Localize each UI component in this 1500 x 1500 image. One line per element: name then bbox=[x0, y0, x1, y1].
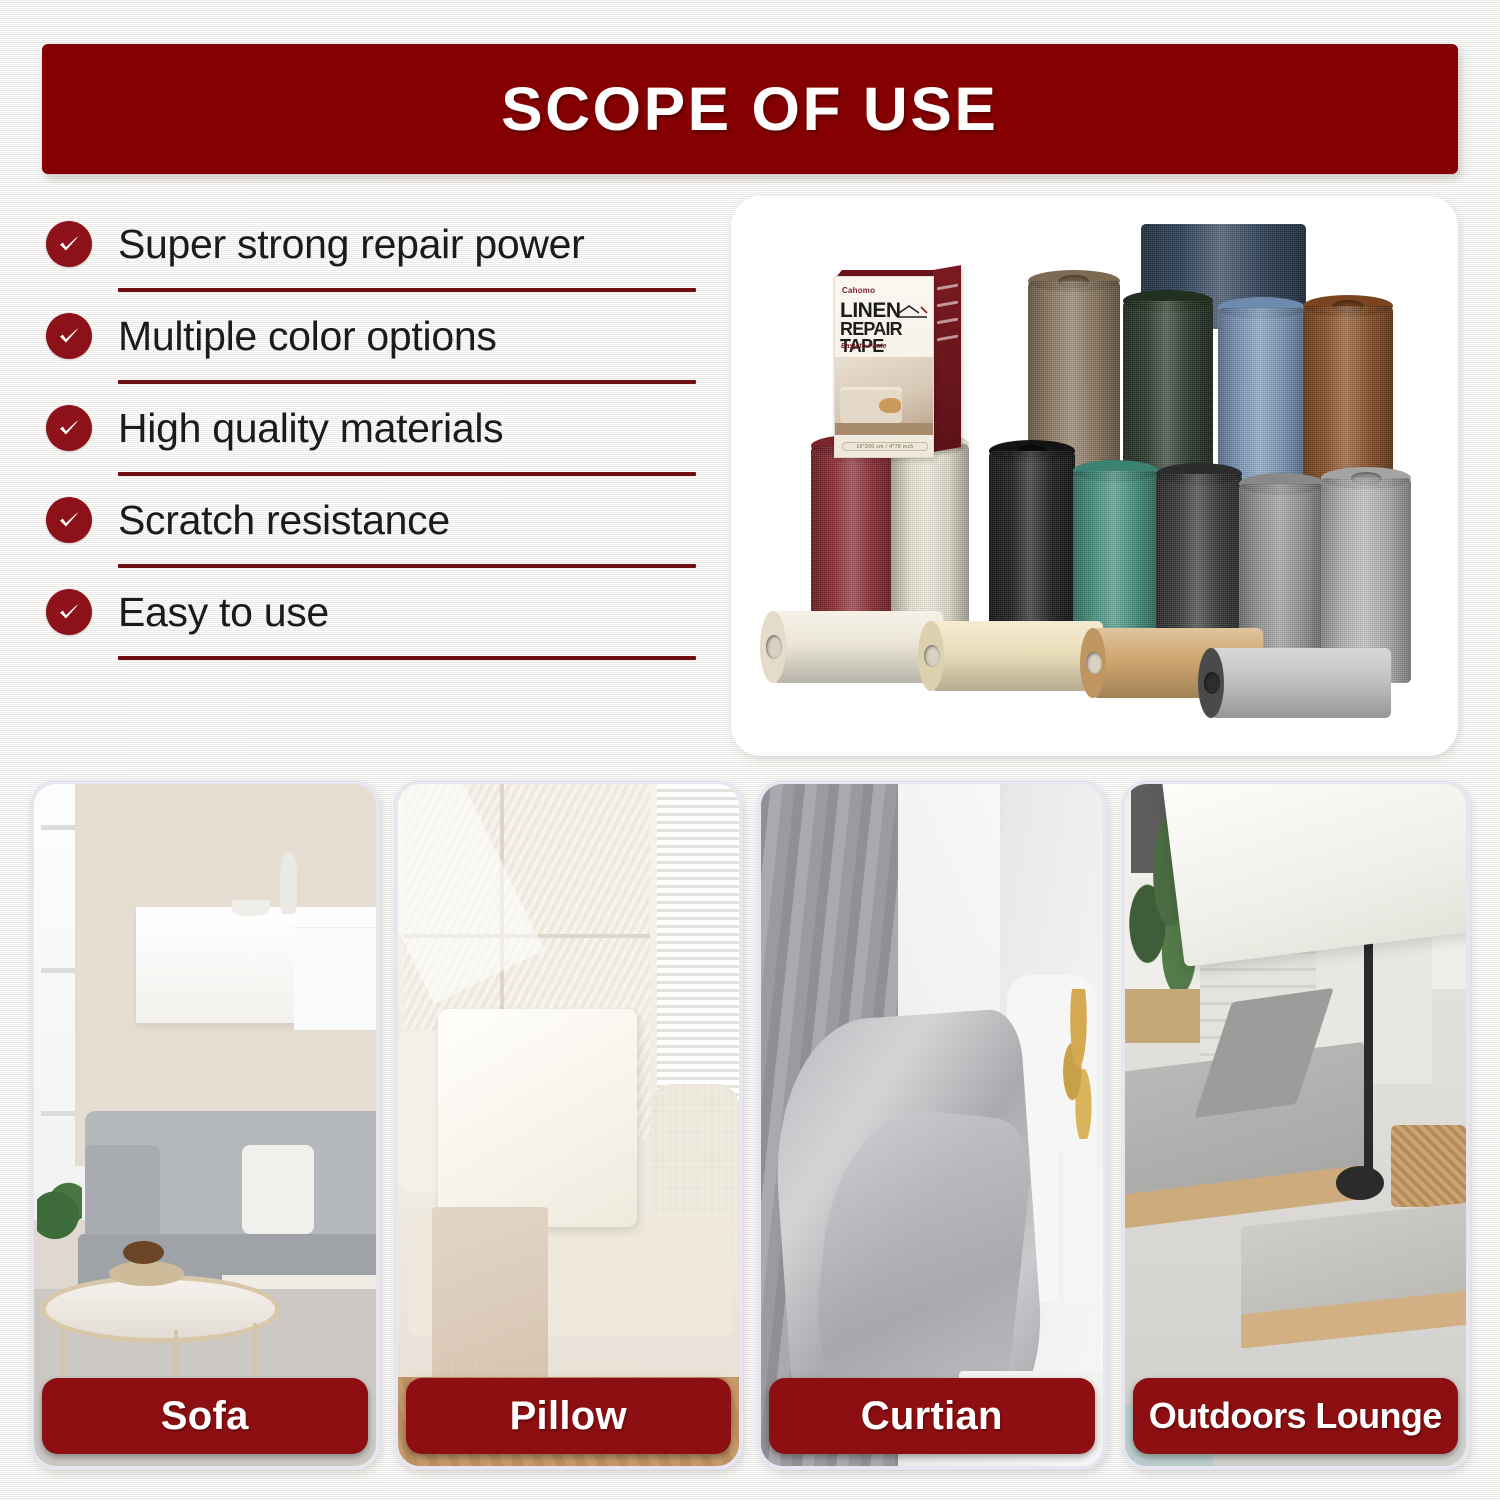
feature-label: High quality materials bbox=[118, 405, 503, 452]
use-case-card-outdoors-lounge[interactable]: Outdoors Lounge bbox=[1121, 780, 1471, 1470]
use-case-card-pillow[interactable]: Pillow bbox=[394, 780, 744, 1470]
box-title-line1: LINEN bbox=[840, 301, 901, 321]
infographic-page: SCOPE OF USE Super strong repair power M… bbox=[0, 0, 1500, 1500]
feature-label: Easy to use bbox=[118, 589, 329, 636]
product-box: Cahomo LINEN REPAIR TAPE Easy to Paste Q… bbox=[834, 270, 961, 460]
box-front-face: Cahomo LINEN REPAIR TAPE Easy to Paste Q… bbox=[834, 276, 934, 458]
card-label-text: Pillow bbox=[510, 1394, 627, 1439]
product-arrangement: Cahomo LINEN REPAIR TAPE Easy to Paste Q… bbox=[731, 196, 1458, 756]
box-feature-bullets bbox=[937, 284, 958, 356]
feature-item: Super strong repair power bbox=[46, 200, 696, 288]
use-case-card-curtain[interactable]: Curtian bbox=[757, 780, 1107, 1470]
feature-list: Super strong repair power Multiple color… bbox=[46, 200, 696, 660]
box-tagline-1: Easy to Paste bbox=[841, 343, 887, 350]
pillow-scene-image bbox=[398, 784, 740, 1466]
card-label-text: Sofa bbox=[161, 1394, 249, 1439]
box-lifestyle-photo bbox=[835, 357, 934, 435]
feature-item: High quality materials bbox=[46, 384, 696, 472]
page-title: SCOPE OF USE bbox=[501, 74, 998, 144]
card-label-sofa: Sofa bbox=[42, 1378, 368, 1454]
header-banner: SCOPE OF USE bbox=[42, 44, 1458, 174]
check-circle-icon bbox=[46, 589, 92, 635]
check-circle-icon bbox=[46, 497, 92, 543]
box-title-line2: REPAIR TAPE bbox=[840, 321, 933, 355]
feature-item: Scratch resistance bbox=[46, 476, 696, 564]
box-dimensions-label: 10*200 cm / 4*78 inch bbox=[842, 442, 928, 451]
brand-logo: Cahomo bbox=[842, 286, 875, 295]
check-circle-icon bbox=[46, 221, 92, 267]
card-label-outdoors-lounge: Outdoors Lounge bbox=[1133, 1378, 1459, 1454]
feature-label: Scratch resistance bbox=[118, 497, 450, 544]
tape-roll-silver-gray-lying bbox=[1211, 648, 1391, 718]
check-circle-icon bbox=[46, 313, 92, 359]
product-photo-panel: Cahomo LINEN REPAIR TAPE Easy to Paste Q… bbox=[731, 196, 1458, 756]
outdoors-lounge-scene-image bbox=[1125, 784, 1467, 1466]
card-label-curtain: Curtian bbox=[769, 1378, 1095, 1454]
feature-label: Multiple color options bbox=[118, 313, 497, 360]
use-case-card-sofa[interactable]: Sofa bbox=[30, 780, 380, 1470]
check-circle-icon bbox=[46, 405, 92, 451]
sofa-scene-image bbox=[34, 784, 376, 1466]
feature-item: Easy to use bbox=[46, 568, 696, 656]
box-side-face bbox=[933, 265, 961, 452]
house-roof-icon bbox=[897, 304, 931, 320]
card-label-pillow: Pillow bbox=[406, 1378, 732, 1454]
curtain-scene-image bbox=[761, 784, 1103, 1466]
card-label-text: Curtian bbox=[861, 1394, 1003, 1439]
use-case-cards: Sofa bbox=[30, 780, 1470, 1470]
card-label-text: Outdoors Lounge bbox=[1149, 1395, 1442, 1437]
brand-name: Cahomo bbox=[842, 286, 875, 295]
feature-item: Multiple color options bbox=[46, 292, 696, 380]
feature-label: Super strong repair power bbox=[118, 221, 585, 268]
tape-roll-beige-lying bbox=[931, 621, 1103, 691]
feature-separator bbox=[118, 656, 696, 660]
